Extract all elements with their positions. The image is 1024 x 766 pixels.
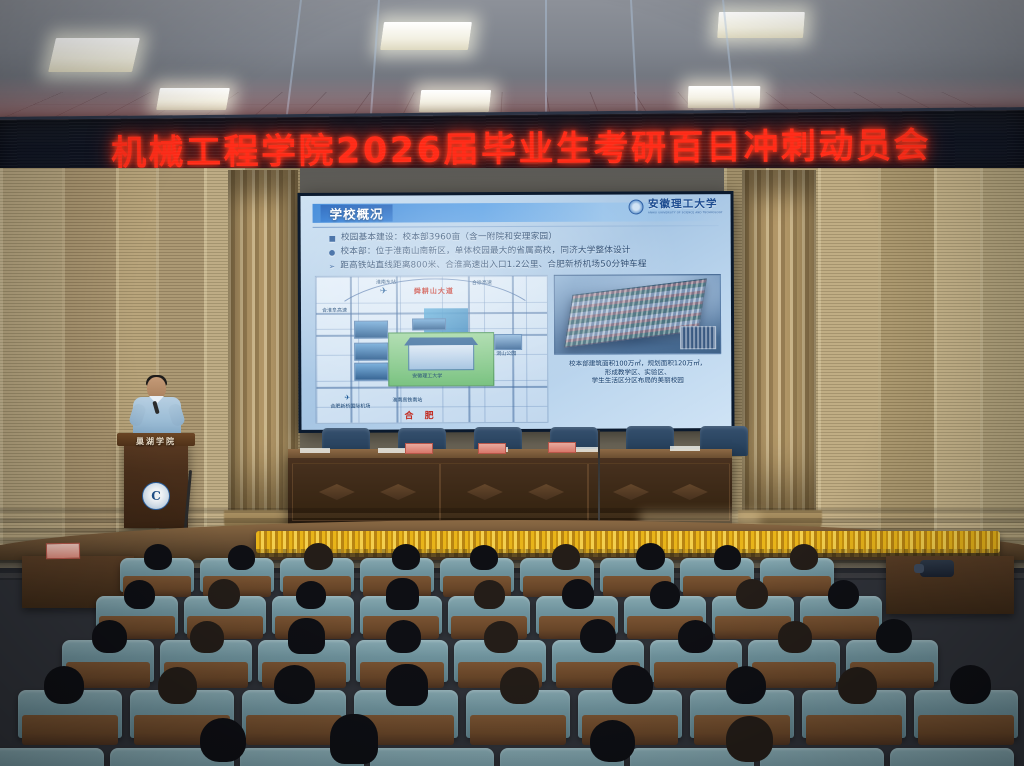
name-card [478, 443, 506, 454]
speaker-head [147, 377, 166, 399]
bullet-marker-square-icon: ■ [329, 233, 336, 244]
audience-head [386, 578, 419, 610]
map-photo-thumb [412, 318, 446, 330]
audience-head [228, 545, 255, 570]
audience-head [208, 579, 240, 609]
seat-back [470, 715, 566, 745]
map-label: 舜耕山大道 [414, 286, 454, 296]
wall-panel [934, 168, 981, 560]
projection-screen: 学校概况 安徽理工大学 ANHUI UNIVERSITY OF SCIENCE … [297, 191, 734, 433]
map-label: 安徽理工大学 [412, 372, 442, 379]
seat[interactable] [890, 748, 1014, 766]
bullet-marker-arrow-icon: ➢ [329, 261, 336, 272]
led-banner-text: 机械工程学院2026届毕业生考研百日冲刺动员会 [93, 116, 931, 175]
podium-label: 巢湖学院 [124, 436, 188, 447]
ceiling-lamp [717, 12, 805, 38]
audience-head [590, 720, 635, 762]
document-paper [378, 448, 408, 453]
audience-head [562, 579, 594, 609]
map-main-building-icon [408, 342, 474, 370]
presentation-slide: 学校概况 安徽理工大学 ANHUI UNIVERSITY OF SCIENCE … [300, 194, 731, 430]
seat-back [803, 616, 878, 640]
aerial-inset-thumb [680, 326, 716, 349]
audience-head [274, 665, 315, 704]
map-photo-thumb [354, 343, 388, 361]
bullet-text: 距高铁站直线距离800米、合淮高速出入口1.2公里、合肥新桥机场50分钟车程 [340, 259, 646, 271]
audience-head [876, 619, 912, 653]
wall-panel [980, 168, 1024, 560]
seat-back [246, 715, 342, 745]
audience-head [552, 544, 580, 570]
bullet-text: 校园基本建设：校本部3960亩（含一附院和安理家园） [341, 232, 557, 244]
floor-microphone-stand [598, 430, 600, 526]
audience-head [296, 581, 326, 609]
university-name-cn: 安徽理工大学 [648, 199, 723, 210]
slide-bullet: ➢ 距高铁站直线距离800米、合淮高速出入口1.2公里、合肥新桥机场50分钟车程 [329, 259, 714, 272]
audience-head [470, 545, 498, 570]
seat-back [918, 715, 1014, 745]
map-label: 洞山公园 [496, 350, 516, 357]
slide-title: 学校概况 [321, 205, 393, 222]
panel-diamond-ornament [528, 484, 564, 500]
name-card [405, 443, 433, 454]
audience-seating [0, 540, 1024, 766]
document-paper [300, 448, 330, 453]
audience-head [190, 621, 224, 653]
aerial-caption: 校本部建筑面积100万㎡，规划面积120万㎡， 形成教学区、实验区、 学生生活区… [554, 359, 721, 386]
audience-head [838, 667, 877, 704]
audience-head [828, 580, 859, 609]
campus-aerial-photo [554, 274, 722, 355]
audience-head [726, 666, 766, 704]
audience-head [726, 716, 773, 762]
wall-panel [0, 168, 63, 560]
audience-head [392, 544, 420, 570]
seat-back [22, 715, 118, 745]
ceiling-lamp [48, 38, 140, 72]
seat-back [763, 576, 831, 597]
slide-bullet: ● 校本部：位于淮南山南新区，单体校园最大的省属高校，同济大学整体设计 [329, 245, 714, 258]
panel-diamond-ornament [467, 484, 503, 500]
audience-head [580, 619, 616, 653]
name-card [548, 442, 576, 453]
panel-diamond-ornament [319, 484, 355, 500]
university-name-en: ANHUI UNIVERSITY OF SCIENCE AND TECHNOLO… [648, 212, 723, 215]
map-label: 淮南东站 [376, 279, 396, 286]
airplane-icon: ✈ [380, 287, 388, 296]
audience-head [92, 620, 127, 653]
aerial-caption-line: 校本部建筑面积100万㎡，规划面积120万㎡， [554, 359, 721, 368]
audience-head [200, 718, 246, 762]
panel-diamond-ornament [672, 484, 708, 500]
map-photo-thumb [354, 363, 388, 381]
wall-panel [818, 168, 879, 560]
slide-media-row: ✈ ✈ 舜耕山大道 合徐高速 合淮阜高速 淮南东站 安徽理工大学 洞山公园 合肥… [315, 274, 722, 424]
wall-panel [62, 168, 117, 560]
podium: 巢湖学院 C [124, 440, 188, 528]
seat[interactable] [760, 748, 884, 766]
map-city-label: 合 肥 [404, 408, 437, 421]
audience-head [44, 666, 84, 704]
seat[interactable] [0, 748, 104, 766]
campus-location-map: ✈ ✈ 舜耕山大道 合徐高速 合淮阜高速 淮南东站 安徽理工大学 洞山公园 合肥… [315, 275, 548, 424]
audience-head [304, 543, 333, 570]
audience-head [474, 580, 505, 609]
ceiling [0, 0, 1024, 122]
audience-head [790, 544, 818, 570]
audience-head [678, 620, 713, 653]
audience-head [950, 665, 991, 704]
panel-diamond-ornament [380, 484, 416, 500]
audience-head [500, 667, 539, 704]
aerial-caption-line: 学生生活区分区布局的美丽校园 [554, 376, 721, 385]
map-label: 合肥新桥国际机场 [330, 403, 370, 410]
university-logo: 安徽理工大学 ANHUI UNIVERSITY OF SCIENCE AND T… [629, 199, 723, 215]
map-label: 合淮阜高速 [322, 307, 347, 314]
audience-head [158, 667, 197, 704]
seat-back [806, 715, 902, 745]
ceiling-lamp [380, 22, 472, 50]
campus-aerial-block: 校本部建筑面积100万㎡，规划面积120万㎡， 形成教学区、实验区、 学生生活区… [554, 274, 722, 423]
audience-head [636, 543, 665, 570]
slide-divider [313, 225, 719, 228]
university-logo-icon [629, 199, 644, 214]
auditorium-photo: 机械工程学院2026届毕业生考研百日冲刺动员会 学校概况 [0, 0, 1024, 766]
slide-bullet: ■ 校园基本建设：校本部3960亩（含一附院和安理家园） [329, 231, 714, 244]
audience-head [124, 580, 155, 609]
map-photo-thumb [354, 321, 388, 339]
audience-head [612, 665, 653, 704]
head-table-top [288, 449, 732, 458]
panel-diamond-ornament [613, 484, 649, 500]
audience-head [778, 621, 812, 653]
college-emblem-icon: C [142, 482, 170, 510]
bullet-text: 校本部：位于淮南山南新区，单体校园最大的省属高校，同济大学整体设计 [340, 245, 630, 257]
map-label: 合徐高速 [472, 279, 492, 286]
stage-curtain-right [742, 170, 816, 522]
audience-head [330, 714, 378, 764]
airplane-icon: ✈ [344, 395, 350, 402]
audience-head [650, 581, 680, 609]
seat[interactable] [370, 748, 494, 766]
document-paper [670, 446, 700, 451]
audience-head [386, 664, 428, 706]
slide-bullet-list: ■ 校园基本建设：校本部3960亩（含一附院和安理家园） ● 校本部：位于淮南山… [329, 231, 714, 275]
bullet-marker-circle-icon: ● [329, 247, 336, 258]
wall-panel [878, 168, 935, 560]
audience-head [714, 545, 741, 570]
audience-head [386, 620, 421, 653]
map-label: 淮南高铁南站 [392, 396, 422, 403]
map-skyline-icon [494, 334, 522, 350]
audience-head [288, 618, 325, 654]
audience-head [144, 544, 172, 570]
audience-head [736, 579, 768, 609]
audience-head [484, 621, 518, 653]
